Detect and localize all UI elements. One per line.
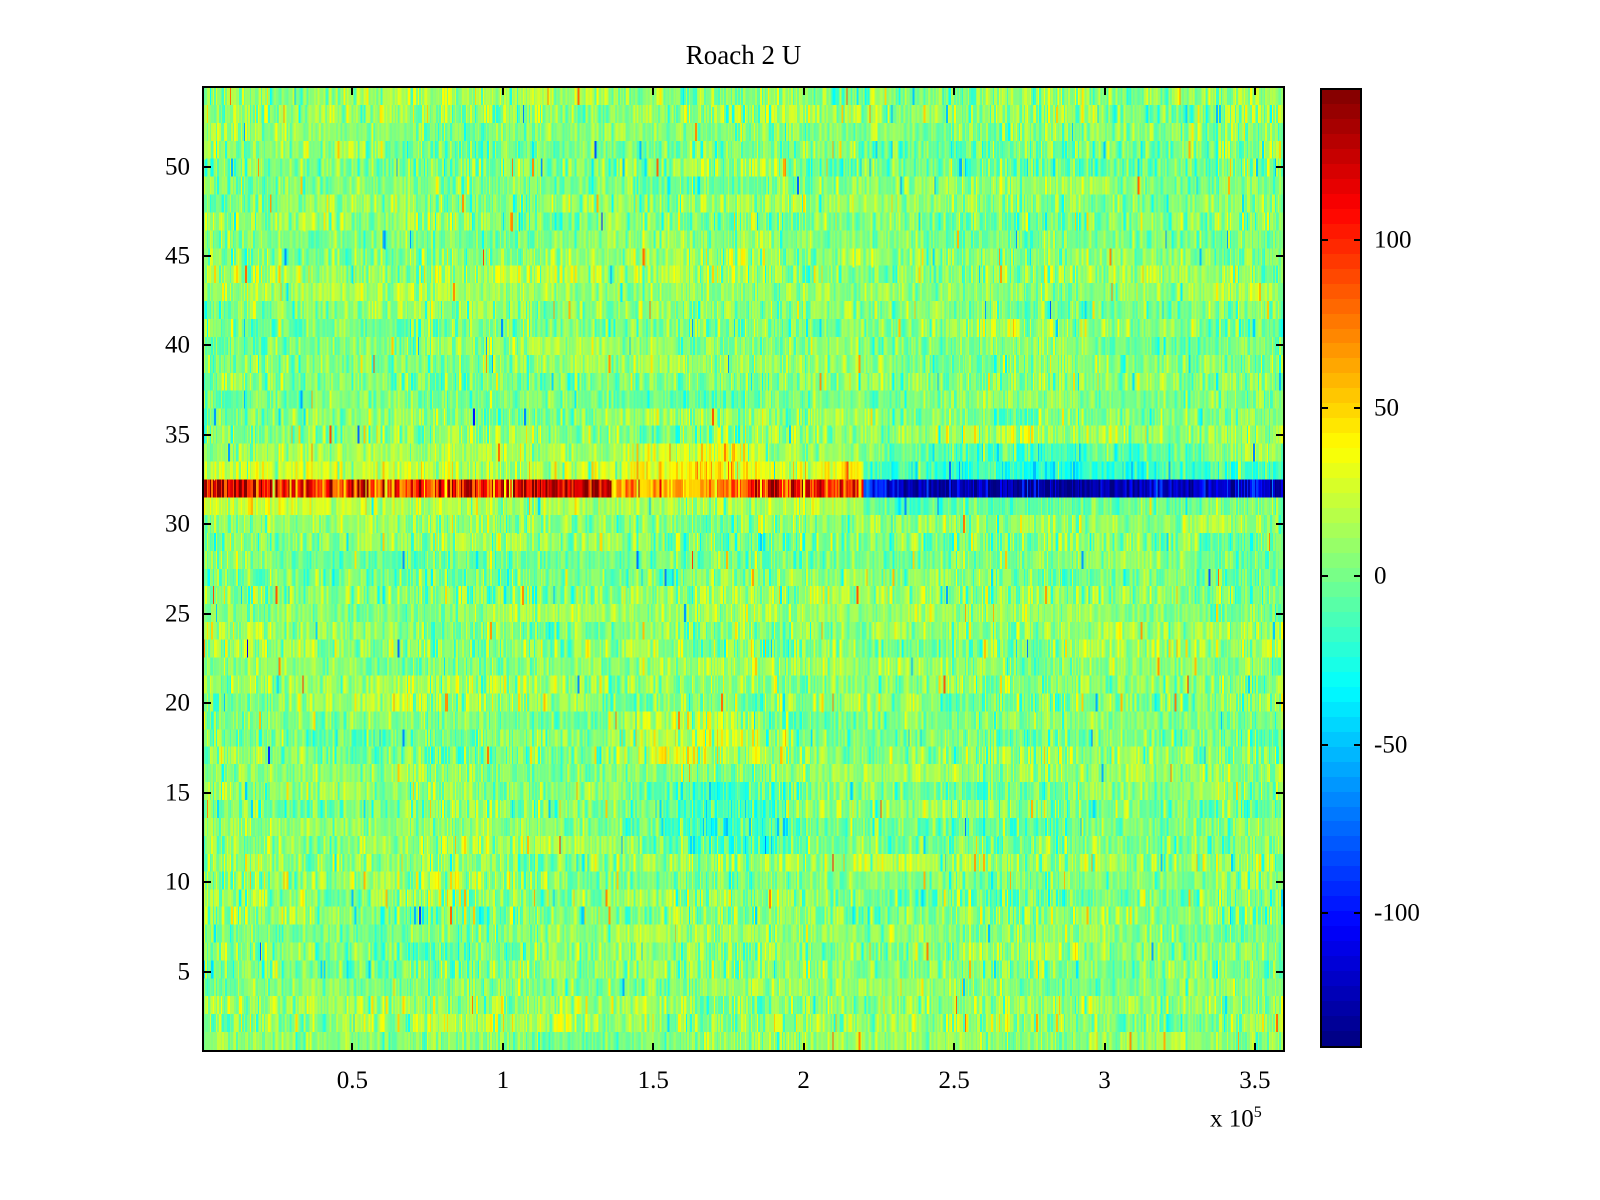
x-tick-top-2 [803, 86, 805, 95]
y-tick-right-35 [1276, 434, 1285, 436]
y-tick-right-15 [1276, 792, 1285, 794]
page-title: Roach 2 U [202, 42, 1285, 69]
y-tick-35 [202, 434, 211, 436]
x-tick-3 [1104, 1043, 1106, 1052]
y-tick-right-45 [1276, 255, 1285, 257]
y-tick-label-50: 50 [122, 154, 190, 179]
colorbar-gradient [1322, 90, 1360, 1046]
y-tick-label-45: 45 [122, 243, 190, 268]
y-tick-label-40: 40 [122, 333, 190, 358]
x-tick-label-1: 1 [497, 1068, 510, 1093]
y-tick-40 [202, 344, 211, 346]
y-tick-25 [202, 613, 211, 615]
y-tick-label-10: 10 [122, 870, 190, 895]
x-tick-1.5 [652, 1043, 654, 1052]
x-tick-label-3.5: 3.5 [1239, 1068, 1270, 1093]
colorbar-tick-label-0: 0 [1374, 564, 1387, 589]
figure-canvas: Roach 2 U 51015202530354045500.511.522.5… [0, 0, 1600, 1200]
y-tick-right-5 [1276, 971, 1285, 973]
y-tick-label-25: 25 [122, 601, 190, 626]
x-tick-top-1.5 [652, 86, 654, 95]
x-tick-label-1.5: 1.5 [638, 1068, 669, 1093]
y-tick-right-30 [1276, 523, 1285, 525]
colorbar-tick-label--50: -50 [1374, 732, 1407, 757]
x-tick-2.5 [953, 1043, 955, 1052]
y-tick-30 [202, 523, 211, 525]
colorbar-tick-label-100: 100 [1374, 227, 1412, 252]
x-exponent-base: x 10 [1210, 1105, 1254, 1132]
x-exponent-power: 5 [1254, 1104, 1262, 1121]
y-tick-label-30: 30 [122, 512, 190, 537]
y-tick-15 [202, 792, 211, 794]
x-tick-top-1 [502, 86, 504, 95]
y-tick-label-20: 20 [122, 691, 190, 716]
x-tick-top-3 [1104, 86, 1106, 95]
x-tick-2 [803, 1043, 805, 1052]
x-tick-top-2.5 [953, 86, 955, 95]
x-axis-exponent-label: x 105 [1210, 1105, 1262, 1131]
y-tick-right-20 [1276, 702, 1285, 704]
colorbar-tick-left-50 [1320, 407, 1328, 409]
x-tick-label-2: 2 [797, 1068, 810, 1093]
colorbar-tick-left-0 [1320, 575, 1328, 577]
x-tick-1 [502, 1043, 504, 1052]
y-tick-label-15: 15 [122, 780, 190, 805]
colorbar-tick-left--100 [1320, 912, 1328, 914]
colorbar-tick-label-50: 50 [1374, 396, 1399, 421]
colorbar-tick-label--100: -100 [1374, 901, 1420, 926]
y-tick-right-25 [1276, 613, 1285, 615]
y-tick-10 [202, 881, 211, 883]
x-tick-top-0.5 [351, 86, 353, 95]
y-tick-50 [202, 166, 211, 168]
colorbar-tick-right--50 [1354, 744, 1362, 746]
heatmap-image [204, 88, 1283, 1050]
colorbar[interactable] [1320, 88, 1362, 1048]
x-tick-label-3: 3 [1098, 1068, 1111, 1093]
y-tick-right-40 [1276, 344, 1285, 346]
x-tick-label-2.5: 2.5 [938, 1068, 969, 1093]
y-tick-20 [202, 702, 211, 704]
colorbar-tick-left-100 [1320, 239, 1328, 241]
colorbar-tick-right--100 [1354, 912, 1362, 914]
heatmap-axes[interactable] [202, 86, 1285, 1052]
x-tick-3.5 [1254, 1043, 1256, 1052]
colorbar-tick-right-100 [1354, 239, 1362, 241]
colorbar-tick-right-50 [1354, 407, 1362, 409]
colorbar-tick-right-0 [1354, 575, 1362, 577]
x-tick-0.5 [351, 1043, 353, 1052]
x-tick-label-0.5: 0.5 [337, 1068, 368, 1093]
x-tick-top-3.5 [1254, 86, 1256, 95]
y-tick-45 [202, 255, 211, 257]
y-tick-label-5: 5 [122, 959, 190, 984]
y-tick-label-35: 35 [122, 422, 190, 447]
y-tick-5 [202, 971, 211, 973]
y-tick-right-10 [1276, 881, 1285, 883]
y-tick-right-50 [1276, 166, 1285, 168]
colorbar-tick-left--50 [1320, 744, 1328, 746]
